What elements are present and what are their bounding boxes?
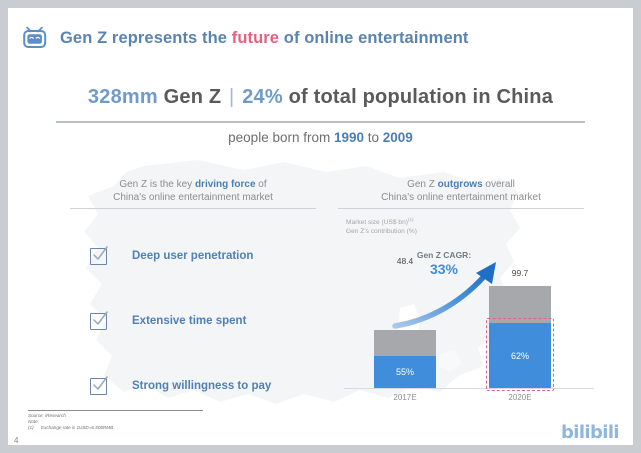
caption-year-to: 2009 (383, 130, 413, 145)
stat-value: 328mm (88, 86, 158, 108)
slide-header: Gen Z represents the future of online en… (22, 26, 469, 50)
right-heading-post: overall (483, 179, 515, 190)
list-item[interactable]: Extensive time spent (90, 311, 271, 331)
right-heading-line2: China's online entertainment market (338, 191, 584, 204)
checkbox-checked-icon (90, 248, 107, 265)
bilibili-logo: bilibili (561, 422, 619, 443)
footnote-text: Exchange rate is 1USD=6.506RMB (41, 425, 113, 430)
left-heading-bold: driving force (195, 179, 256, 190)
right-heading-line1: Gen Z outgrows overall (338, 178, 584, 191)
bullet-label: Extensive time spent (132, 315, 246, 327)
chart-axis-note: Market size (US$ bn)(1) Gen Z's contribu… (346, 216, 417, 236)
footnote-note: (1)Exchange rate is 1USD=6.506RMB (28, 425, 218, 431)
left-heading-underline (70, 208, 316, 209)
bar-group-2020[interactable]: 99.7 62% 2020E (489, 286, 551, 388)
x-axis-label-2020: 2020E (479, 393, 561, 402)
axis-note-line2: Gen Z's contribution (%) (346, 228, 417, 237)
title-highlight: future (232, 29, 279, 47)
left-column-heading: Gen Z is the key driving force of China'… (70, 178, 316, 204)
left-heading-post: of (256, 179, 267, 190)
bar-segment-other-2017 (374, 330, 436, 356)
caption-mid: to (364, 130, 383, 145)
left-heading-line1: Gen Z is the key driving force of (70, 178, 316, 191)
left-heading-line2: China's online entertainment market (70, 191, 316, 204)
checkbox-checked-icon (90, 313, 107, 330)
bullet-label: Strong willingness to pay (132, 380, 271, 392)
bar-segment-genz-2017: 55% (374, 356, 436, 388)
title-text-post: of online entertainment (279, 29, 468, 47)
footnote-index: (1) (28, 425, 41, 431)
right-heading-pre: Gen Z (407, 179, 438, 190)
bar-total-label: 48.4 (374, 256, 436, 266)
bar-pct-label: 62% (511, 351, 529, 361)
slide: Gen Z represents the future of online en… (8, 8, 633, 445)
subtitle-headline: 328mm Gen Z | 24% of total population in… (8, 86, 633, 109)
bar-segment-genz-2020: 62% (489, 323, 551, 388)
stat-label: Gen Z (158, 86, 227, 108)
pct-label: of total population in China (283, 86, 553, 108)
x-axis-label-2017: 2017E (364, 393, 446, 402)
bilibili-tv-icon (22, 26, 48, 50)
subtitle-caption: people born from 1990 to 2009 (8, 130, 633, 145)
bar-pct-label: 55% (396, 367, 414, 377)
right-heading-bold: outgrows (438, 179, 483, 190)
page-title: Gen Z represents the future of online en… (60, 29, 469, 48)
pct-value: 24% (236, 86, 282, 108)
footnote-divider (28, 410, 203, 411)
bullet-label: Deep user penetration (132, 250, 253, 262)
checkbox-checked-icon (90, 378, 107, 395)
axis-note-superscript: (1) (408, 217, 414, 222)
bar-segment-other-2020 (489, 286, 551, 323)
page-number: 4 (14, 436, 18, 445)
right-column-heading: Gen Z outgrows overall China's online en… (338, 178, 584, 204)
chart-baseline (344, 388, 594, 389)
caption-pre: people born from (228, 130, 334, 145)
subtitle-divider (56, 121, 585, 123)
axis-note-line1: Market size (US$ bn) (346, 219, 408, 226)
list-item[interactable]: Strong willingness to pay (90, 376, 271, 396)
left-heading-pre: Gen Z is the key (119, 179, 195, 190)
footnote: Source: iResearch Note: (1)Exchange rate… (28, 410, 218, 432)
bar-group-2017[interactable]: 48.4 55% 2017E (374, 330, 436, 388)
caption-year-from: 1990 (334, 130, 364, 145)
title-text-pre: Gen Z represents the (60, 29, 232, 47)
stacked-bar-chart: Market size (US$ bn)(1) Gen Z's contribu… (344, 208, 594, 408)
bar-total-label: 99.7 (489, 268, 551, 278)
list-item[interactable]: Deep user penetration (90, 246, 271, 266)
